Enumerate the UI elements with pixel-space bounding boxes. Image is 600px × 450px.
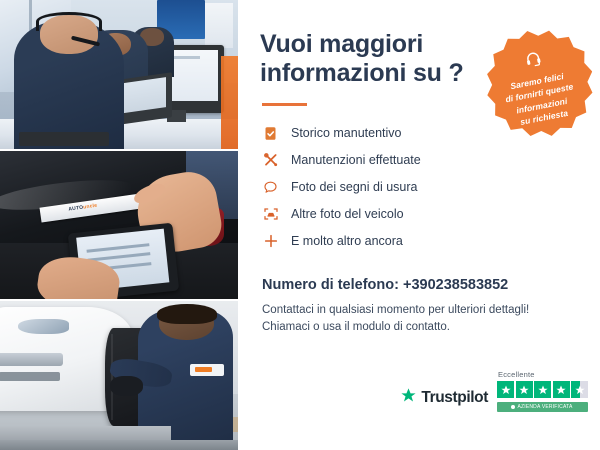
front-grille xyxy=(0,353,63,365)
verified-label: AZIENDA VERIFICATA xyxy=(517,404,572,410)
list-item: Manutenzioni effettuate xyxy=(262,147,578,174)
content-panel: Vuoi maggiori informazioni su ? Storico … xyxy=(238,0,600,450)
badge-text: Saremo felici di fornirti queste informa… xyxy=(502,69,579,130)
headset-icon xyxy=(523,49,544,74)
star-filled-icon xyxy=(553,381,570,398)
phone-number-line[interactable]: Numero di telefono: +390238583852 xyxy=(262,277,578,293)
clipboard-check-icon xyxy=(262,125,279,142)
star-rating xyxy=(497,381,588,398)
mechanic-hair xyxy=(157,304,217,323)
contact-line-1: Contattaci in qualsiasi momento per ulte… xyxy=(262,302,578,320)
list-item-label: E molto altro ancora xyxy=(291,234,403,248)
list-item: Altre foto del veicolo xyxy=(262,201,578,228)
wall-poster xyxy=(205,3,234,48)
star-half-icon xyxy=(571,381,588,398)
crossed-tools-icon xyxy=(262,152,279,169)
list-item-label: Altre foto del veicolo xyxy=(291,207,404,221)
trustpilot-rating: Eccellente AZIENDA VERIFICATA xyxy=(497,370,588,412)
headlamp xyxy=(18,319,70,335)
orange-signage xyxy=(221,56,238,148)
contact-instructions: Contattaci in qualsiasi momento per ulte… xyxy=(262,302,578,338)
speech-bubble-icon xyxy=(262,179,279,196)
headset-band-icon xyxy=(36,12,103,31)
list-item: Foto dei segni di usura xyxy=(262,174,578,201)
desk-mat xyxy=(19,132,109,145)
star-filled-icon xyxy=(516,381,533,398)
workshop-floor xyxy=(0,440,238,450)
plus-icon xyxy=(262,233,279,250)
rating-label: Eccellente xyxy=(498,370,535,379)
trustpilot-star-icon xyxy=(400,387,417,409)
status-badge: AZIENDA VERIFICATA xyxy=(497,402,588,412)
advertisement-banner: AUTOuncle xyxy=(0,0,600,450)
trustpilot-wordmark: Trustpilot xyxy=(421,389,488,407)
list-item-label: Storico manutentivo xyxy=(291,126,401,140)
bumper-vent xyxy=(0,372,60,381)
trustpilot-widget[interactable]: Trustpilot Eccellente AZIENDA VERIFICATA xyxy=(400,370,588,412)
title-divider xyxy=(262,103,307,106)
verified-dot-icon xyxy=(511,405,515,409)
vehicle-inspection-tablet-photo: AUTOuncle xyxy=(0,151,238,300)
scan-car-icon xyxy=(262,206,279,223)
star-filled-icon xyxy=(497,381,514,398)
photo-column: AUTOuncle xyxy=(0,0,238,450)
callout-badge: Saremo felici di fornirti queste informa… xyxy=(472,20,600,151)
contact-line-2: Chiamaci o usa il modulo di contatto. xyxy=(262,319,578,337)
badge-content: Saremo felici di fornirti queste informa… xyxy=(472,20,600,151)
mechanic-wheel-check-photo xyxy=(0,301,238,450)
list-item: E molto altro ancora xyxy=(262,228,578,255)
call-center-agents-photo xyxy=(0,0,238,149)
list-item-label: Manutenzioni effettuate xyxy=(291,153,421,167)
list-item-label: Foto dei segni di usura xyxy=(291,180,417,194)
page-title: Vuoi maggiori informazioni su ? xyxy=(260,30,470,89)
star-filled-icon xyxy=(534,381,551,398)
patch-mark-icon xyxy=(195,367,212,372)
trustpilot-logo: Trustpilot xyxy=(400,387,488,412)
mechanic-glove xyxy=(110,376,143,397)
strip-logo: AUTOuncle xyxy=(68,202,97,212)
uniform-logo-patch xyxy=(190,364,223,376)
